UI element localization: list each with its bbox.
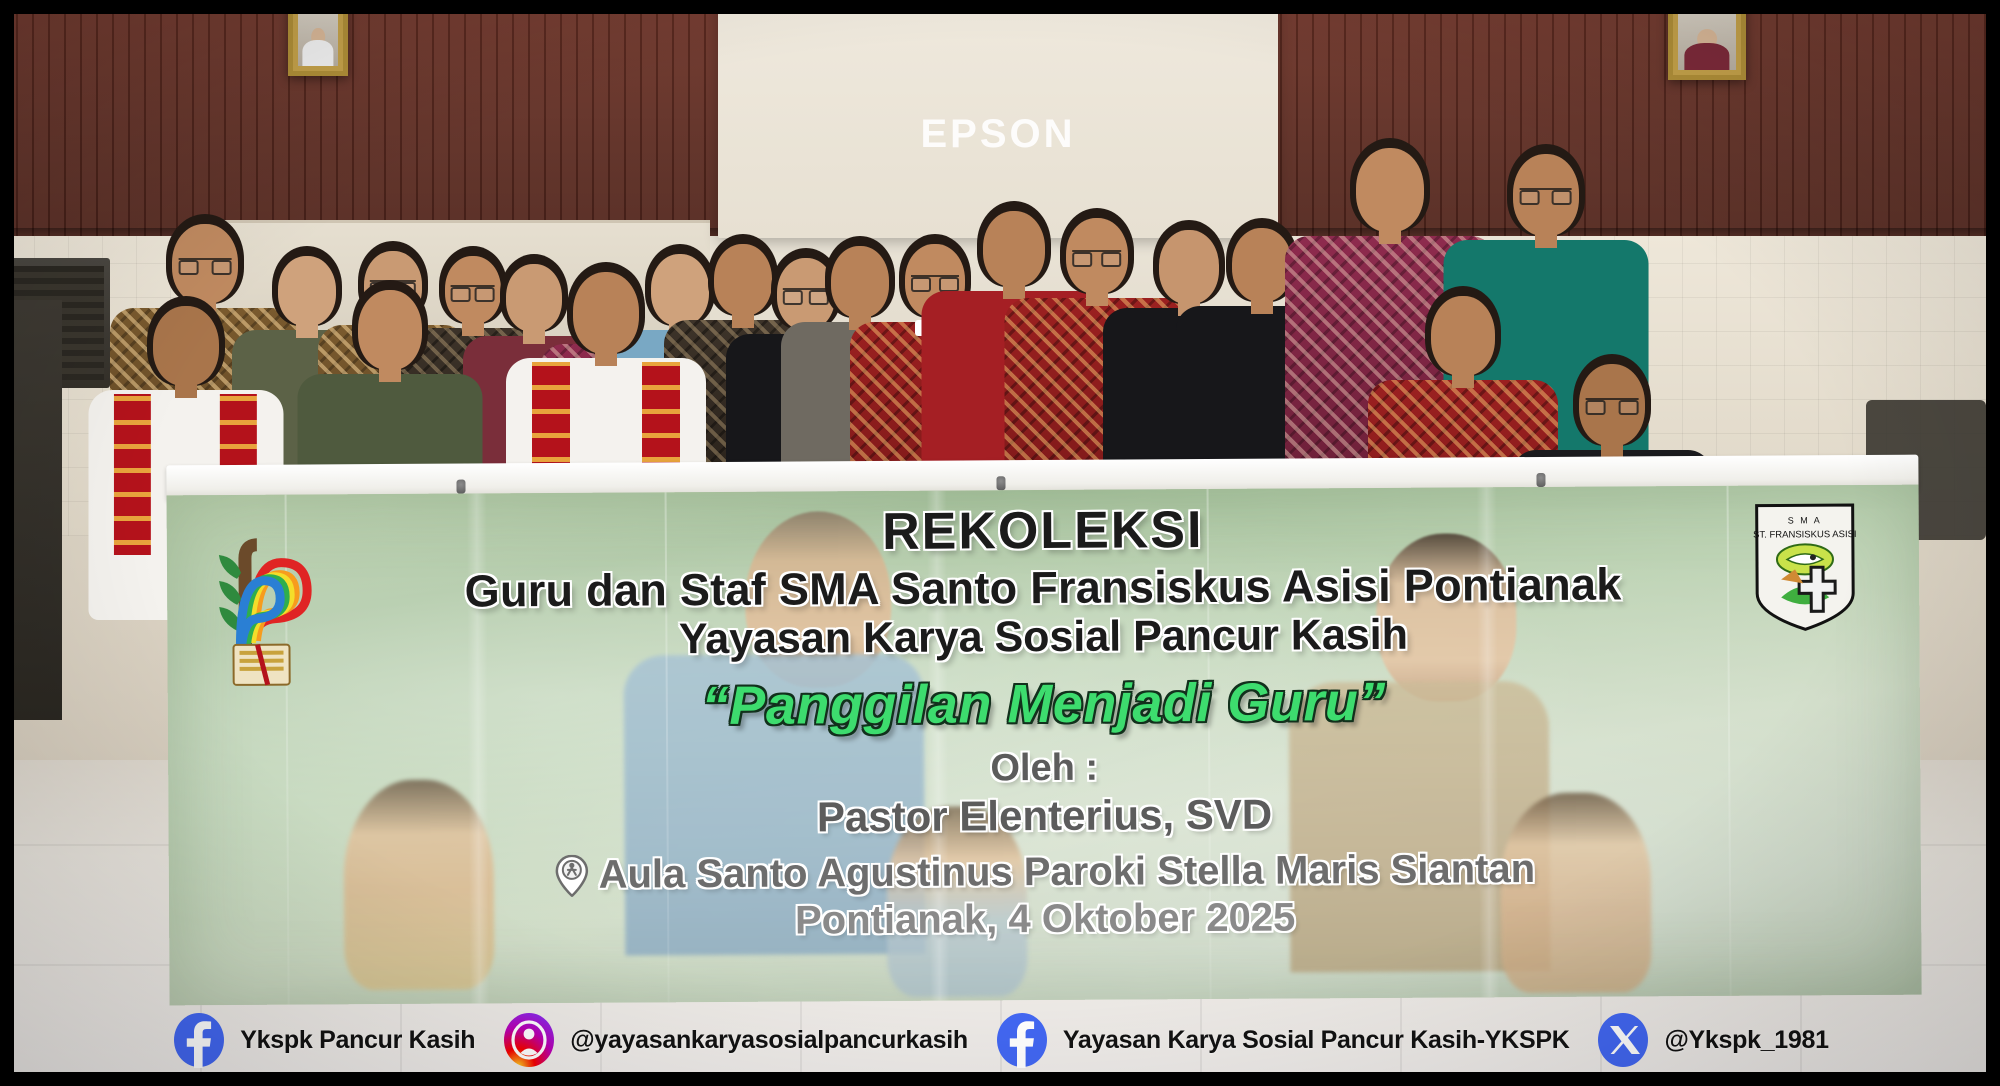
- banner-eyelet: [996, 476, 1005, 490]
- social-item-instagram-1[interactable]: @yayasankaryasosialpancurkasih: [501, 1012, 968, 1068]
- social-item-x-3[interactable]: @Ykspk_1981: [1595, 1012, 1828, 1068]
- banner-eyelet: [456, 480, 465, 494]
- banner-venue-row: Aula Santo Agustinus Paroki Stella Maris…: [169, 845, 1921, 901]
- banner-subtitle-line2: Yayasan Karya Sosial Pancur Kasih: [167, 609, 1919, 667]
- framed-portrait-bishop: [1668, 0, 1746, 80]
- crest-line1: S M A: [1788, 515, 1822, 525]
- social-item-facebook-0[interactable]: Ykspk Pancur Kasih: [171, 1012, 475, 1068]
- ykspk-rainbow-ribbon-logo: [199, 518, 330, 689]
- dark-door-panel: [0, 300, 62, 720]
- x-twitter-icon[interactable]: [1595, 1012, 1651, 1068]
- school-crest-logo: S M A ST. FRANSISKUS ASISI: [1751, 501, 1860, 634]
- framed-portrait-pope: [288, 0, 348, 76]
- face: [573, 272, 639, 354]
- banner-speaker-name: Pastor Elenterius, SVD: [168, 787, 1920, 846]
- banner-vinyl-face: S M A ST. FRANSISKUS ASISI REKOLEKSI Gur…: [167, 485, 1922, 1006]
- social-handle: Yayasan Karya Sosial Pancur Kasih-YKSPK: [1063, 1026, 1570, 1055]
- location-pin-icon: [554, 855, 588, 897]
- banner-venue-text: Aula Santo Agustinus Paroki Stella Maris…: [598, 847, 1535, 898]
- banner-date: Pontianak, 4 Oktober 2025: [169, 892, 1921, 948]
- epson-logo-text: EPSON: [718, 112, 1278, 157]
- social-item-facebook-2[interactable]: Yayasan Karya Sosial Pancur Kasih-YKSPK: [994, 1012, 1570, 1068]
- banner-text-block: REKOLEKSI Guru dan Staf SMA Santo Fransi…: [167, 485, 1922, 1006]
- facebook-icon[interactable]: [171, 1012, 227, 1068]
- eyeglasses: [1586, 398, 1639, 410]
- facebook-icon[interactable]: [994, 1012, 1050, 1068]
- social-handle: @yayasankaryasosialpancurkasih: [570, 1026, 968, 1055]
- face: [358, 290, 422, 370]
- banner-title: REKOLEKSI: [167, 499, 1919, 564]
- face: [1356, 148, 1424, 232]
- portrait-body: [302, 40, 333, 66]
- banner-eyelet: [1536, 473, 1545, 487]
- event-banner: S M A ST. FRANSISKUS ASISI REKOLEKSI Gur…: [166, 455, 1921, 1006]
- face: [1232, 228, 1292, 302]
- face: [153, 306, 219, 386]
- portrait-body: [1684, 43, 1729, 70]
- social-handle: Ykspk Pancur Kasih: [240, 1026, 475, 1055]
- eyeglasses: [179, 258, 232, 270]
- banner-subtitle-line1: Guru dan Staf SMA Santo Fransiskus Asisi…: [167, 557, 1919, 617]
- banner-theme-quote: “Panggilan Menjadi Guru”: [168, 668, 1920, 741]
- face: [1431, 296, 1495, 376]
- eyeglasses: [1519, 188, 1572, 200]
- instagram-icon[interactable]: [501, 1012, 557, 1068]
- crest-line2: ST. FRANSISKUS ASISI: [1753, 529, 1857, 541]
- social-handle: @Ykspk_1981: [1664, 1026, 1828, 1055]
- projection-screen: EPSON: [718, 0, 1278, 238]
- group-photo-scene: EPSON: [0, 0, 2000, 1086]
- social-media-bar: Ykspk Pancur Kasih@yayasankaryasosialpan…: [0, 994, 2000, 1086]
